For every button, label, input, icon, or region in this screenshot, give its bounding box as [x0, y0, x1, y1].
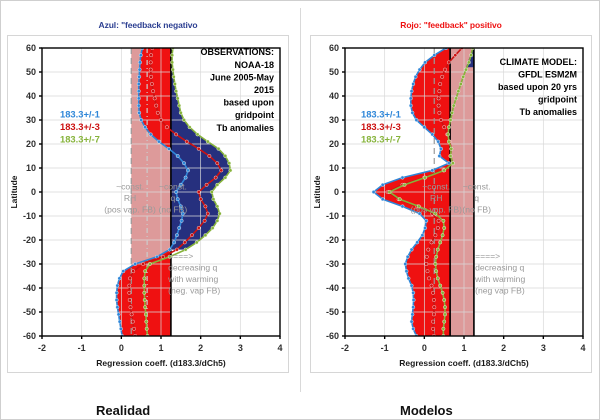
marker-183.3+/-1 — [401, 205, 404, 208]
marker-183.3+/-7 — [464, 68, 467, 71]
legend-entry-1: 183.3+/-3 — [361, 121, 401, 132]
marker-183.3+/-1 — [433, 54, 436, 57]
marker-183.3+/-3 — [214, 176, 217, 179]
ytick-label: -40 — [326, 283, 339, 293]
marker-183.3+/-1 — [425, 219, 428, 222]
marker-183.3+/-1 — [178, 226, 181, 229]
y-axis-title: Latitude — [312, 175, 322, 208]
marker-183.3+/-1 — [118, 277, 121, 280]
marker-183.3+/-3 — [197, 226, 200, 229]
ytick-label: 10 — [329, 163, 339, 173]
marker-183.3+/-7 — [210, 190, 213, 193]
marker-183.3+/-3 — [441, 75, 444, 78]
marker-183.3+/-3 — [149, 68, 152, 71]
marker-183.3+/-7 — [451, 162, 454, 165]
ytick-label: -50 — [23, 307, 36, 317]
marker-183.3+/-3 — [432, 298, 435, 301]
ytick-label: -30 — [23, 259, 36, 269]
marker-183.3+/-7 — [469, 54, 472, 57]
marker-183.3+/-3 — [425, 255, 428, 258]
annotation-line-0: OBSERVATIONS: — [200, 47, 274, 57]
legend-entry-0: 183.3+/-1 — [60, 109, 100, 120]
note-decreasing-2: with warming — [167, 274, 218, 284]
marker-183.3+/-3 — [443, 126, 446, 129]
marker-183.3+/-7 — [212, 198, 215, 201]
ytick-label: 20 — [329, 139, 339, 149]
marker-183.3+/-3 — [430, 241, 433, 244]
marker-183.3+/-3 — [130, 313, 133, 316]
marker-183.3+/-1 — [405, 270, 408, 273]
marker-183.3+/-3 — [436, 226, 439, 229]
marker-183.3+/-1 — [175, 234, 178, 237]
marker-183.3+/-1 — [137, 82, 140, 85]
note-decreasing-1: decreasing q — [475, 263, 524, 273]
marker-183.3+/-3 — [183, 241, 186, 244]
ytick-label: 30 — [329, 115, 339, 125]
marker-183.3+/-7 — [228, 162, 231, 165]
marker-183.3+/-3 — [132, 327, 135, 330]
xtick-label: 1 — [158, 343, 163, 353]
marker-183.3+/-1 — [411, 111, 414, 114]
marker-183.3+/-1 — [137, 97, 140, 100]
marker-183.3+/-7 — [435, 255, 438, 258]
marker-183.3+/-7 — [145, 320, 148, 323]
marker-183.3+/-7 — [218, 212, 221, 215]
marker-183.3+/-1 — [138, 111, 141, 114]
xtick-label: -1 — [381, 343, 389, 353]
annotation-line-5: gridpoint — [235, 110, 274, 120]
marker-183.3+/-1 — [418, 68, 421, 71]
marker-183.3+/-7 — [454, 97, 457, 100]
marker-183.3+/-1 — [438, 154, 441, 157]
marker-183.3+/-1 — [439, 147, 442, 150]
marker-183.3+/-7 — [217, 147, 220, 150]
marker-183.3+/-1 — [412, 327, 415, 330]
marker-183.3+/-3 — [197, 190, 200, 193]
marker-183.3+/-3 — [426, 270, 429, 273]
marker-183.3+/-1 — [137, 104, 140, 107]
marker-183.3+/-1 — [119, 327, 122, 330]
marker-183.3+/-7 — [450, 111, 453, 114]
marker-183.3+/-1 — [412, 82, 415, 85]
marker-183.3+/-1 — [167, 147, 170, 150]
marker-183.3+/-7 — [452, 104, 455, 107]
xtick-label: 3 — [541, 343, 546, 353]
note-const-q-2: (no FB) — [462, 205, 491, 215]
marker-183.3+/-1 — [409, 97, 412, 100]
annotation-line-2: June 2005-May — [210, 72, 274, 82]
note-const-q-1: q — [171, 193, 176, 203]
marker-183.3+/-3 — [431, 320, 434, 323]
ytick-label: 30 — [26, 115, 36, 125]
annotation-line-3: gridpoint — [538, 95, 577, 105]
marker-183.3+/-1 — [423, 61, 426, 64]
marker-183.3+/-3 — [197, 147, 200, 150]
marker-183.3+/-7 — [443, 169, 446, 172]
xtick-label: -2 — [38, 343, 46, 353]
marker-183.3+/-7 — [449, 118, 452, 121]
ytick-label: 50 — [329, 67, 339, 77]
ytick-label: -60 — [23, 331, 36, 341]
marker-183.3+/-3 — [129, 306, 132, 309]
chart-svg-observations: -2-1012346050403020100-10-20-30-40-50-60… — [8, 36, 288, 372]
marker-183.3+/-7 — [446, 133, 449, 136]
marker-183.3+/-3 — [204, 205, 207, 208]
marker-183.3+/-1 — [149, 133, 152, 136]
marker-183.3+/-3 — [155, 104, 158, 107]
marker-183.3+/-1 — [404, 262, 407, 265]
chart-observations: -2-1012346050403020100-10-20-30-40-50-60… — [7, 35, 289, 373]
marker-183.3+/-7 — [388, 190, 391, 193]
ytick-label: -50 — [326, 307, 339, 317]
panel-divider — [300, 8, 301, 392]
marker-183.3+/-3 — [427, 277, 430, 280]
xtick-label: 0 — [119, 343, 124, 353]
marker-183.3+/-1 — [410, 90, 413, 93]
marker-183.3+/-1 — [412, 298, 415, 301]
marker-183.3+/-1 — [414, 75, 417, 78]
ytick-label: 40 — [329, 91, 339, 101]
xtick-label: 0 — [422, 343, 427, 353]
marker-183.3+/-3 — [159, 118, 162, 121]
marker-183.3+/-1 — [180, 219, 183, 222]
marker-183.3+/-3 — [437, 97, 440, 100]
marker-183.3+/-3 — [128, 298, 131, 301]
note-const-q-0: ~const. — [463, 182, 491, 192]
marker-183.3+/-7 — [443, 226, 446, 229]
note-const-rh-1: RH — [430, 193, 442, 203]
marker-183.3+/-3 — [439, 82, 442, 85]
marker-183.3+/-7 — [170, 61, 173, 64]
xtick-label: 3 — [238, 343, 243, 353]
ytick-label: 60 — [329, 43, 339, 53]
marker-183.3+/-1 — [143, 126, 146, 129]
marker-183.3+/-3 — [141, 262, 144, 265]
marker-183.3+/-7 — [439, 284, 442, 287]
marker-183.3+/-7 — [441, 291, 444, 294]
marker-183.3+/-3 — [174, 133, 177, 136]
marker-183.3+/-3 — [190, 234, 193, 237]
marker-183.3+/-7 — [206, 140, 209, 143]
marker-183.3+/-1 — [176, 198, 179, 201]
marker-183.3+/-7 — [195, 241, 198, 244]
marker-183.3+/-7 — [143, 306, 146, 309]
marker-183.3+/-7 — [170, 54, 173, 57]
xtick-label: -2 — [341, 343, 349, 353]
marker-183.3+/-7 — [467, 61, 470, 64]
marker-183.3+/-7 — [439, 241, 442, 244]
marker-183.3+/-1 — [184, 176, 187, 179]
marker-183.3+/-1 — [138, 68, 141, 71]
marker-183.3+/-7 — [441, 234, 444, 237]
marker-183.3+/-3 — [425, 262, 428, 265]
marker-183.3+/-7 — [423, 176, 426, 179]
marker-183.3+/-7 — [443, 306, 446, 309]
caption-realidad: Realidad — [96, 403, 150, 418]
ytick-label: -40 — [23, 283, 36, 293]
marker-183.3+/-7 — [216, 205, 219, 208]
marker-183.3+/-1 — [157, 140, 160, 143]
marker-183.3+/-1 — [138, 61, 141, 64]
marker-183.3+/-3 — [430, 284, 433, 287]
marker-183.3+/-7 — [457, 90, 460, 93]
marker-183.3+/-1 — [122, 270, 125, 273]
marker-183.3+/-1 — [182, 162, 185, 165]
marker-183.3+/-3 — [149, 54, 152, 57]
note-decreasing-2: with warming — [474, 274, 525, 284]
ytick-label: -10 — [326, 211, 339, 221]
marker-183.3+/-1 — [407, 277, 410, 280]
xtick-label: 2 — [198, 343, 203, 353]
marker-183.3+/-3 — [156, 111, 159, 114]
marker-183.3+/-7 — [216, 219, 219, 222]
marker-183.3+/-1 — [410, 248, 413, 251]
marker-183.3+/-7 — [224, 176, 227, 179]
annotation-line-4: based upon — [223, 98, 274, 108]
marker-183.3+/-7 — [224, 154, 227, 157]
marker-183.3+/-7 — [462, 75, 465, 78]
panel-observations: Azul: "feedback negativo -2-101234605040… — [5, 10, 291, 390]
marker-183.3+/-3 — [443, 68, 446, 71]
annotation-line-1: GFDL ESM2M — [518, 69, 577, 79]
marker-183.3+/-1 — [118, 320, 121, 323]
marker-183.3+/-7 — [143, 277, 146, 280]
marker-183.3+/-1 — [431, 133, 434, 136]
xtick-label: 1 — [461, 343, 466, 353]
marker-183.3+/-7 — [172, 75, 175, 78]
legend-entry-2: 183.3+/-7 — [361, 134, 401, 145]
marker-183.3+/-7 — [174, 90, 177, 93]
annotation-line-1: NOAA-18 — [234, 60, 274, 70]
marker-183.3+/-1 — [115, 291, 118, 294]
marker-183.3+/-7 — [182, 118, 185, 121]
chart-svg-climate-model: -2-1012346050403020100-10-20-30-40-50-60… — [311, 36, 591, 372]
x-axis-title: Regression coeff. (d183.3/dCh5) — [399, 358, 529, 368]
marker-183.3+/-7 — [143, 298, 146, 301]
marker-183.3+/-7 — [403, 183, 406, 186]
marker-183.3+/-3 — [438, 111, 441, 114]
marker-183.3+/-7 — [434, 262, 437, 265]
marker-183.3+/-1 — [372, 190, 375, 193]
marker-183.3+/-7 — [443, 320, 446, 323]
slide-root: Azul: "feedback negativo -2-101234605040… — [0, 0, 600, 420]
marker-183.3+/-7 — [176, 97, 179, 100]
marker-183.3+/-1 — [437, 140, 440, 143]
legend-entry-0: 183.3+/-1 — [361, 109, 401, 120]
marker-183.3+/-3 — [432, 313, 435, 316]
marker-183.3+/-3 — [437, 104, 440, 107]
marker-183.3+/-1 — [416, 241, 419, 244]
marker-183.3+/-3 — [433, 306, 436, 309]
marker-183.3+/-7 — [229, 169, 232, 172]
marker-183.3+/-1 — [406, 255, 409, 258]
marker-183.3+/-7 — [179, 111, 182, 114]
marker-183.3+/-7 — [447, 140, 450, 143]
marker-183.3+/-1 — [172, 241, 175, 244]
marker-183.3+/-7 — [450, 147, 453, 150]
marker-183.3+/-7 — [143, 270, 146, 273]
note-const-rh-0: ~const. — [116, 182, 144, 192]
marker-183.3+/-7 — [204, 234, 207, 237]
marker-183.3+/-3 — [434, 234, 437, 237]
marker-183.3+/-3 — [447, 61, 450, 64]
marker-183.3+/-7 — [447, 126, 450, 129]
marker-183.3+/-3 — [131, 320, 134, 323]
note-decreasing-3: (neg. vap FB) — [168, 286, 220, 296]
marker-183.3+/-3 — [220, 169, 223, 172]
marker-183.3+/-7 — [171, 68, 174, 71]
ytick-label: -20 — [23, 235, 36, 245]
ytick-label: 20 — [26, 139, 36, 149]
marker-183.3+/-3 — [454, 54, 457, 57]
ytick-label: 0 — [334, 187, 339, 197]
y-axis-title: Latitude — [9, 175, 19, 208]
annotation-line-4: Tb anomalies — [519, 107, 577, 117]
marker-183.3+/-1 — [401, 176, 404, 179]
note-const-q-0: ~const. — [159, 182, 187, 192]
marker-183.3+/-7 — [178, 104, 181, 107]
note-const-q-1: q — [474, 193, 479, 203]
marker-183.3+/-3 — [128, 291, 131, 294]
ytick-label: 60 — [26, 43, 36, 53]
marker-183.3+/-3 — [165, 126, 168, 129]
xtick-label: 4 — [580, 343, 585, 353]
marker-183.3+/-7 — [436, 248, 439, 251]
marker-183.3+/-3 — [150, 82, 153, 85]
marker-183.3+/-1 — [186, 169, 189, 172]
marker-183.3+/-1 — [421, 234, 424, 237]
annotation-line-2: based upon 20 yrs — [498, 82, 577, 92]
marker-183.3+/-3 — [427, 248, 430, 251]
marker-183.3+/-3 — [128, 284, 131, 287]
marker-183.3+/-7 — [143, 291, 146, 294]
marker-183.3+/-3 — [206, 212, 209, 215]
marker-183.3+/-1 — [410, 320, 413, 323]
marker-183.3+/-1 — [412, 291, 415, 294]
ytick-label: 50 — [26, 67, 36, 77]
marker-183.3+/-1 — [423, 126, 426, 129]
ytick-label: -60 — [326, 331, 339, 341]
note-decreasing-1: decreasing q — [168, 263, 217, 273]
marker-183.3+/-7 — [442, 327, 445, 330]
panel-title-observations: Azul: "feedback negativo — [5, 20, 291, 30]
annotation-line-3: 2015 — [254, 85, 274, 95]
marker-183.3+/-7 — [144, 313, 147, 316]
marker-183.3+/-1 — [117, 313, 120, 316]
marker-183.3+/-3 — [205, 183, 208, 186]
ytick-label: 40 — [26, 91, 36, 101]
note-decreasing-0: ====> — [475, 251, 500, 261]
marker-183.3+/-7 — [398, 198, 401, 201]
xtick-label: -1 — [78, 343, 86, 353]
marker-183.3+/-7 — [442, 219, 445, 222]
marker-183.3+/-1 — [415, 118, 418, 121]
marker-183.3+/-7 — [459, 82, 462, 85]
note-const-rh-2: (pos vap. FB) — [104, 205, 156, 215]
panel-title-climate-model: Rojo: "feedback" positivo — [308, 20, 594, 30]
marker-183.3+/-1 — [431, 169, 434, 172]
marker-183.3+/-1 — [411, 313, 414, 316]
panel-climate-model: Rojo: "feedback" positivo -2-10123460504… — [308, 10, 594, 390]
marker-183.3+/-3 — [132, 270, 135, 273]
marker-183.3+/-3 — [185, 140, 188, 143]
marker-183.3+/-1 — [138, 75, 141, 78]
annotation-line-6: Tb anomalies — [216, 123, 274, 133]
note-decreasing-3: (neg vap FB) — [475, 286, 525, 296]
marker-183.3+/-7 — [435, 270, 438, 273]
annotation-line-0: CLIMATE MODEL: — [500, 57, 577, 67]
marker-183.3+/-1 — [137, 90, 140, 93]
ytick-label: -10 — [23, 211, 36, 221]
marker-183.3+/-1 — [423, 226, 426, 229]
ytick-label: 10 — [26, 163, 36, 173]
marker-183.3+/-1 — [140, 118, 143, 121]
marker-183.3+/-7 — [188, 126, 191, 129]
marker-183.3+/-3 — [437, 219, 440, 222]
xtick-label: 2 — [501, 343, 506, 353]
marker-183.3+/-1 — [176, 154, 179, 157]
marker-183.3+/-1 — [134, 262, 137, 265]
xtick-label: 4 — [277, 343, 282, 353]
ytick-label: -30 — [326, 259, 339, 269]
marker-183.3+/-7 — [443, 298, 446, 301]
marker-183.3+/-7 — [443, 313, 446, 316]
marker-183.3+/-1 — [412, 306, 415, 309]
marker-183.3+/-1 — [409, 104, 412, 107]
note-const-rh-2: (pos vap. FB) — [410, 205, 462, 215]
note-const-q-2: (no FB) — [159, 205, 188, 215]
marker-183.3+/-3 — [153, 97, 156, 100]
marker-183.3+/-3 — [128, 277, 131, 280]
marker-183.3+/-7 — [173, 82, 176, 85]
marker-183.3+/-7 — [449, 154, 452, 157]
marker-183.3+/-3 — [203, 219, 206, 222]
marker-183.3+/-3 — [431, 291, 434, 294]
marker-183.3+/-1 — [381, 183, 384, 186]
chart-climate-model: -2-1012346050403020100-10-20-30-40-50-60… — [310, 35, 592, 373]
marker-183.3+/-3 — [439, 118, 442, 121]
caption-modelos: Modelos — [400, 403, 453, 418]
marker-183.3+/-3 — [431, 327, 434, 330]
marker-183.3+/-7 — [196, 133, 199, 136]
marker-183.3+/-7 — [148, 262, 151, 265]
marker-183.3+/-1 — [381, 198, 384, 201]
marker-183.3+/-7 — [216, 183, 219, 186]
marker-183.3+/-3 — [149, 61, 152, 64]
legend-entry-1: 183.3+/-3 — [60, 121, 100, 132]
marker-183.3+/-3 — [151, 90, 154, 93]
note-const-rh-1: RH — [124, 193, 136, 203]
marker-183.3+/-7 — [143, 284, 146, 287]
ytick-label: 0 — [31, 187, 36, 197]
note-decreasing-0: ====> — [168, 251, 193, 261]
note-const-rh-0: ~const. — [422, 182, 450, 192]
marker-183.3+/-7 — [436, 277, 439, 280]
marker-183.3+/-1 — [115, 298, 118, 301]
x-axis-title: Regression coeff. (d183.3/dCh5) — [96, 358, 226, 368]
legend-entry-2: 183.3+/-7 — [60, 134, 100, 145]
marker-183.3+/-3 — [208, 154, 211, 157]
marker-183.3+/-1 — [410, 284, 413, 287]
marker-183.3+/-1 — [116, 306, 119, 309]
marker-183.3+/-1 — [116, 284, 119, 287]
marker-183.3+/-3 — [199, 198, 202, 201]
marker-183.3+/-1 — [139, 54, 142, 57]
marker-183.3+/-3 — [438, 90, 441, 93]
marker-183.3+/-7 — [211, 226, 214, 229]
marker-183.3+/-7 — [145, 327, 148, 330]
marker-183.3+/-3 — [216, 162, 219, 165]
